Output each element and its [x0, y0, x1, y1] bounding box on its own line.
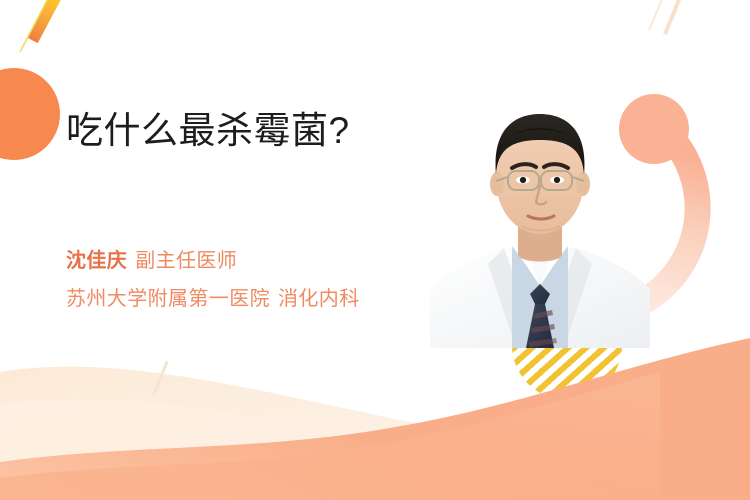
- health-topic-card: 吃什么最杀霉菌? 沈佳庆副主任医师 苏州大学附属第一医院消化内科: [0, 0, 750, 500]
- doctor-name-line: 沈佳庆副主任医师: [66, 246, 360, 276]
- page-title: 吃什么最杀霉菌?: [66, 108, 456, 154]
- doctor-title: 副主任医师: [135, 250, 237, 272]
- doctor-name: 沈佳庆: [66, 250, 127, 272]
- doctor-hospital: 苏州大学附属第一医院: [66, 288, 270, 310]
- doctor-credentials: 沈佳庆副主任医师 苏州大学附属第一医院消化内科: [66, 246, 360, 314]
- doctor-affiliation-line: 苏州大学附属第一医院消化内科: [66, 284, 360, 314]
- headline-block: 吃什么最杀霉菌?: [66, 108, 456, 154]
- doctor-department: 消化内科: [278, 288, 360, 310]
